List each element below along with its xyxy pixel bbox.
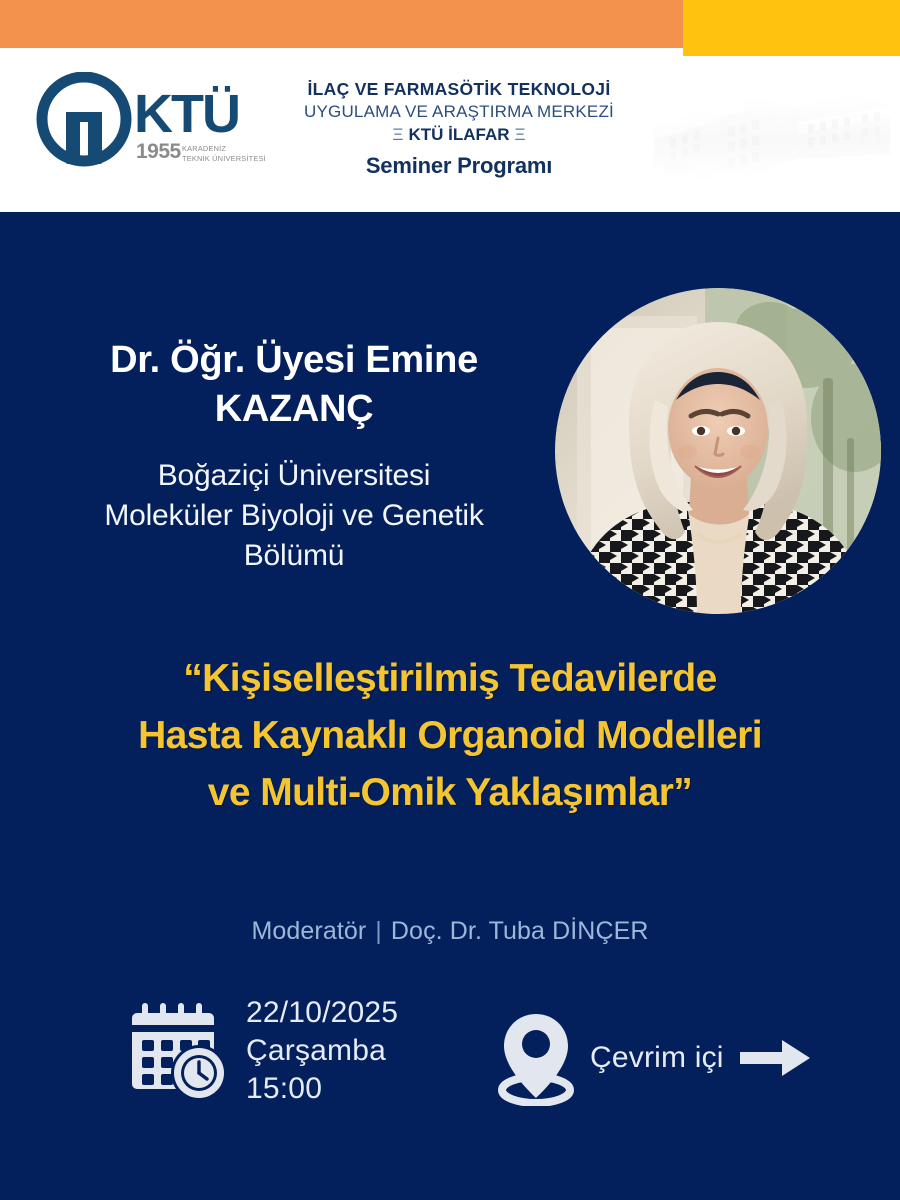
affiliation-line-1: Boğaziçi Üniversitesi — [24, 456, 564, 496]
moderator-line: Moderatör|Doç. Dr. Tuba DİNÇER — [0, 915, 900, 947]
svg-text:1955: 1955 — [136, 140, 182, 163]
speaker-name-line-2: KAZANÇ — [24, 385, 564, 434]
ornament-right-icon: Ξ — [510, 125, 531, 144]
seminar-title-line-1: “Kişiselleştirilmiş Tedavilerde — [20, 650, 880, 707]
speaker-affiliation: Boğaziçi Üniversitesi Moleküler Biyoloji… — [24, 456, 564, 576]
event-date: 22/10/2025 — [246, 994, 398, 1032]
moderator-divider: | — [366, 915, 391, 947]
speaker-name: Dr. Öğr. Üyesi Emine KAZANÇ — [24, 336, 564, 434]
svg-text:KTÜ: KTÜ — [134, 84, 239, 144]
university-building-watermark-image — [648, 62, 896, 202]
speaker-portrait-photo — [555, 288, 881, 614]
event-info-row: 22/10/2025 Çarşamba 15:00 Çevrim içi — [0, 990, 900, 1130]
arrow-right-icon — [738, 1038, 812, 1078]
speaker-name-line-1: Dr. Öğr. Üyesi Emine — [24, 336, 564, 385]
poster-body: Dr. Öğr. Üyesi Emine KAZANÇ Boğaziçi Üni… — [0, 212, 900, 1200]
event-time: 15:00 — [246, 1070, 398, 1108]
seminar-title-line-2: Hasta Kaynaklı Organoid Modelleri — [20, 707, 880, 764]
top-bar-orange — [0, 0, 683, 48]
moderator-label: Moderatör — [251, 917, 366, 945]
map-pin-icon — [492, 1010, 580, 1106]
seminar-poster: KTÜ 1955 KARADENİZ TEKNİK ÜNİVERSİTESİ İ… — [0, 0, 900, 1200]
seminar-title-line-3: ve Multi-Omik Yaklaşımlar” — [20, 764, 880, 821]
ornament-left-icon: Ξ — [387, 125, 408, 144]
event-location-block: Çevrim içi — [492, 1010, 812, 1106]
header-line-3: ΞKTÜ İLAFARΞ — [268, 123, 650, 147]
header-line-1: İLAÇ VE FARMASÖTİK TEKNOLOJİ — [268, 78, 650, 100]
seminar-title: “Kişiselleştirilmiş Tedavilerde Hasta Ka… — [20, 650, 880, 821]
header-title-block: İLAÇ VE FARMASÖTİK TEKNOLOJİ UYGULAMA VE… — [268, 78, 650, 179]
top-bar-gold — [683, 0, 900, 56]
ktu-logo: KTÜ 1955 KARADENİZ TEKNİK ÜNİVERSİTESİ — [36, 72, 268, 176]
speaker-block: Dr. Öğr. Üyesi Emine KAZANÇ Boğaziçi Üni… — [24, 336, 564, 576]
event-datetime-text: 22/10/2025 Çarşamba 15:00 — [246, 994, 398, 1108]
header-band: KTÜ 1955 KARADENİZ TEKNİK ÜNİVERSİTESİ İ… — [0, 56, 900, 212]
calendar-clock-icon — [128, 999, 232, 1103]
event-day: Çarşamba — [246, 1032, 398, 1070]
event-location-text: Çevrim içi — [590, 1039, 724, 1077]
header-center-name: KTÜ İLAFAR — [408, 125, 509, 144]
event-datetime-block: 22/10/2025 Çarşamba 15:00 — [128, 994, 398, 1108]
affiliation-line-3: Bölümü — [24, 536, 564, 576]
moderator-name: Doç. Dr. Tuba DİNÇER — [391, 917, 649, 945]
svg-text:TEKNİK ÜNİVERSİTESİ: TEKNİK ÜNİVERSİTESİ — [182, 154, 266, 163]
svg-text:KARADENİZ: KARADENİZ — [182, 144, 226, 153]
header-line-2: UYGULAMA VE ARAŞTIRMA MERKEZİ — [268, 100, 650, 123]
header-program-label: Seminer Programı — [268, 153, 650, 179]
affiliation-line-2: Moleküler Biyoloji ve Genetik — [24, 496, 564, 536]
